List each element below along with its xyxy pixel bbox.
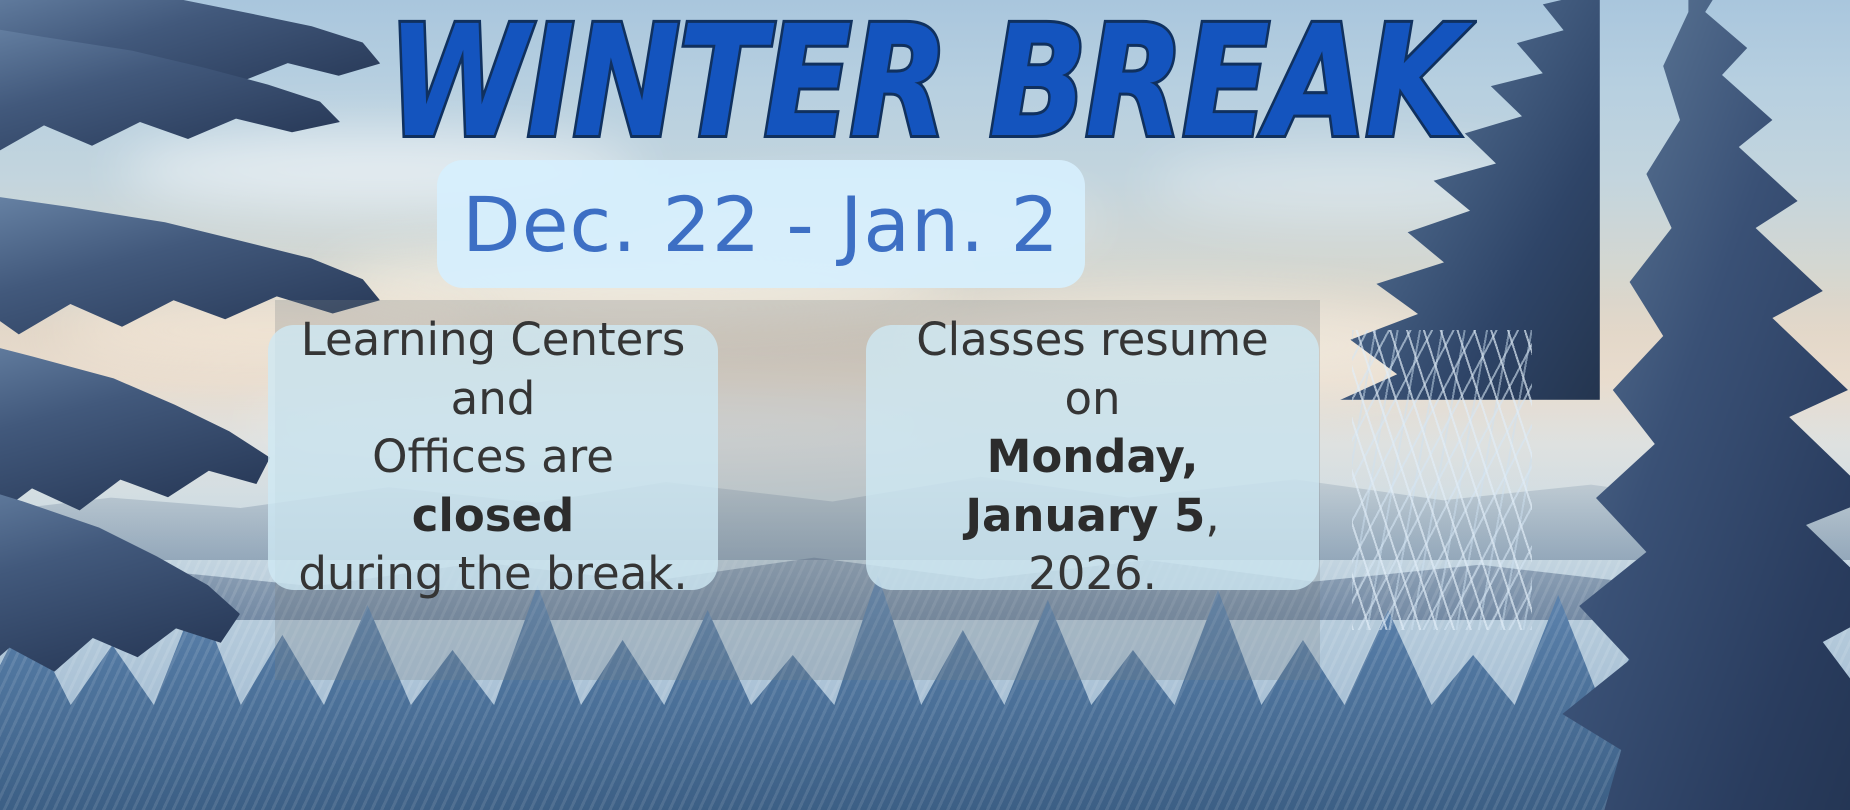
resume-notice-text: Classes resume on Monday, January 5, 202… [892,311,1293,604]
page-title: WINTER BREAK [0,2,1850,163]
closure-notice-card: Learning Centers and Offices are closed … [268,325,718,590]
closure-keyword: closed [412,489,575,542]
resume-notice-card: Classes resume on Monday, January 5, 202… [866,325,1319,590]
closure-line-2-prefix: Offices are [372,430,614,483]
date-range-badge: Dec. 22 - Jan. 2 [437,160,1085,288]
resume-date: Monday, January 5 [965,430,1205,542]
resume-line-2-suffix: , [1205,489,1219,542]
closure-line-1: Learning Centers and [301,313,686,425]
resume-year: 2026. [1028,547,1157,600]
resume-line-1: Classes resume on [916,313,1269,425]
closure-notice-text: Learning Centers and Offices are closed … [294,311,692,604]
winter-break-banner: WINTER BREAK Dec. 22 - Jan. 2 Learning C… [0,0,1850,810]
closure-line-3: during the break. [298,547,687,600]
date-range-text: Dec. 22 - Jan. 2 [462,180,1060,269]
